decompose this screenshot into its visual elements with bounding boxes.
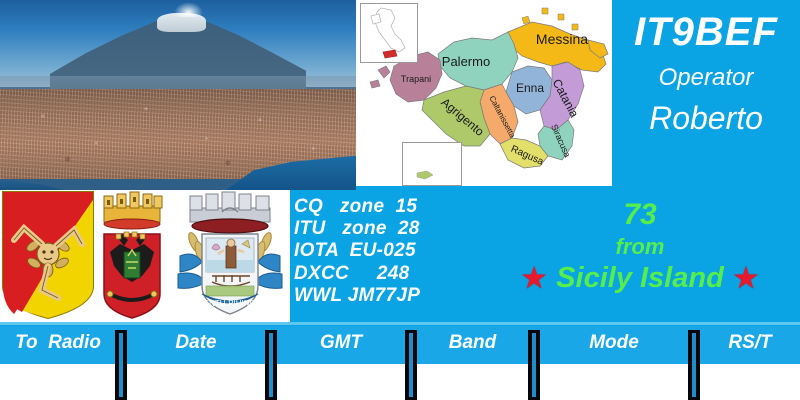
city-crest: KENTU-PIHINON	[172, 190, 288, 321]
operator-name: Roberto	[612, 102, 800, 134]
info-row-itu-zone: ITU zone 28	[294, 218, 420, 240]
silver-mural-crown	[190, 192, 270, 233]
star-left-icon: ★	[522, 265, 546, 292]
log-separator-2	[265, 330, 277, 400]
mural-crown	[104, 192, 162, 229]
greeting-73: 73	[480, 200, 800, 230]
greeting-place-row: ★ Sicily Island ★	[480, 264, 800, 293]
log-separator-4	[528, 330, 540, 400]
etna-plume	[174, 2, 202, 17]
info-row-wwl: WWL JM77JP	[294, 285, 420, 307]
qsl-card: Palermo Trapani Messina Enna Catania Agr…	[0, 0, 800, 400]
emblem-strip: KENTU-PIHINON	[0, 190, 290, 323]
log-separator-3	[405, 330, 417, 400]
greeting-block: 73 from ★ Sicily Island ★	[480, 196, 800, 293]
station-info-block: CQ zone 15 ITU zone 28 IOTA EU-025 DXCC …	[294, 196, 420, 307]
log-column-to-radio: To Radio	[0, 332, 116, 354]
log-separator-1	[115, 330, 127, 400]
log-column-date: Date	[127, 332, 265, 354]
log-separator-5	[688, 330, 700, 400]
info-row-cq-zone: CQ zone 15	[294, 196, 420, 218]
info-row-dxcc: DXCC 248	[294, 263, 420, 285]
log-column-mode: Mode	[540, 332, 688, 354]
messina-eagle-crest	[98, 190, 166, 321]
callsign-text: IT9BEF	[612, 12, 800, 52]
greeting-from: from	[480, 236, 800, 258]
log-top-rule	[0, 322, 800, 325]
log-column-rst: RS/T	[700, 332, 800, 354]
map-label-trapani: Trapani	[401, 74, 431, 84]
greeting-place: Sicily Island	[556, 264, 724, 293]
sicily-map: Palermo Trapani Messina Enna Catania Agr…	[356, 0, 612, 186]
log-column-band: Band	[417, 332, 528, 354]
italy-locator-inset	[360, 3, 418, 63]
info-row-iota: IOTA EU-025	[294, 240, 420, 262]
map-label-enna: Enna	[516, 81, 544, 95]
map-scale-inset	[402, 142, 462, 186]
catania-etna-photo	[0, 0, 356, 190]
map-label-messina: Messina	[536, 31, 588, 47]
callsign-block: IT9BEF Operator Roberto	[612, 0, 800, 190]
star-right-icon: ★	[734, 265, 758, 292]
sicily-trinacria-flag-shield	[0, 190, 96, 321]
map-label-palermo: Palermo	[442, 54, 490, 69]
city-crest-motto: KENTU-PIHINON	[198, 299, 261, 308]
operator-label: Operator	[612, 66, 800, 90]
log-column-gmt: GMT	[277, 332, 405, 354]
